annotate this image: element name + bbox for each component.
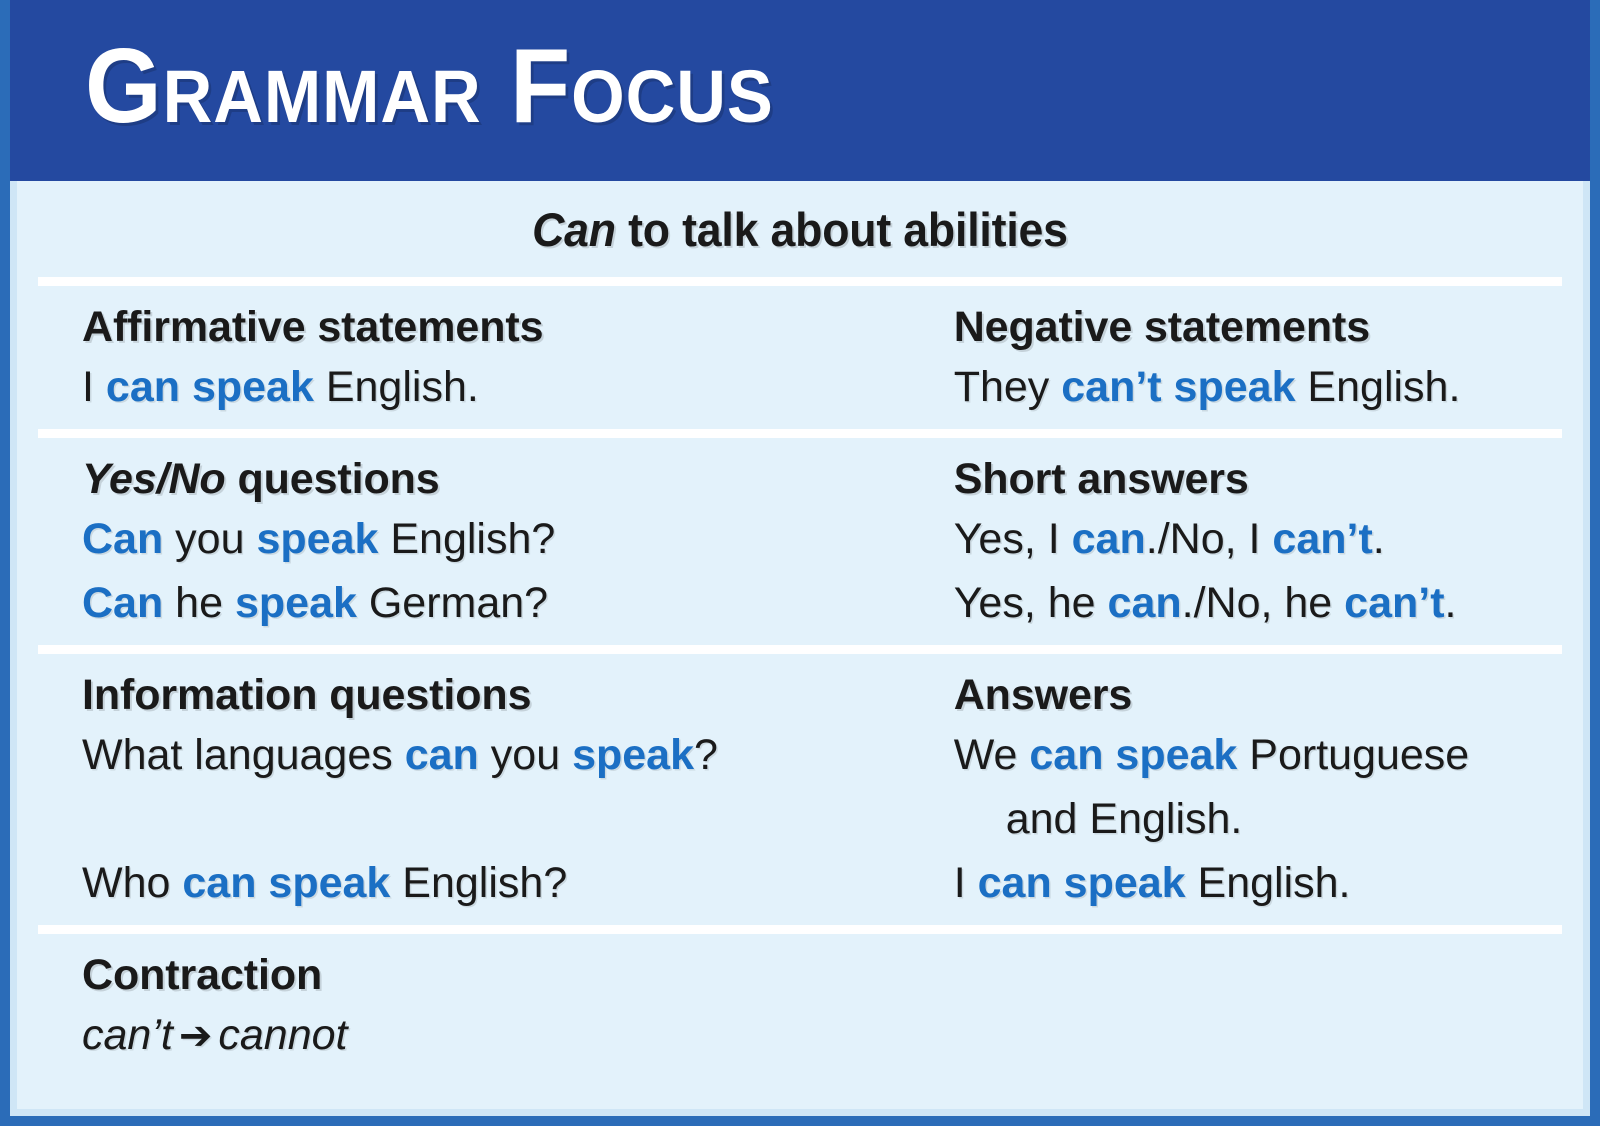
subtitle-rest: to talk about abilities <box>616 203 1068 256</box>
text-plain: German? <box>357 579 548 627</box>
text-highlight: can <box>1072 515 1146 563</box>
text-highlight: can’t <box>1344 579 1444 627</box>
contraction-row: Contraction can’t➔cannot <box>10 934 1590 1078</box>
text-plain: English. <box>1295 363 1460 411</box>
category-title: Affirmative statements <box>82 300 909 355</box>
text-plain: English. <box>1186 859 1351 907</box>
text-plain: What languages <box>82 731 405 779</box>
text-plain: They <box>954 363 1062 411</box>
text-plain: ./No, I <box>1146 515 1273 563</box>
text-plain: you <box>163 515 256 563</box>
category-title-emphasis: Yes/No <box>82 455 226 503</box>
example-line: Can you speak English? <box>82 507 909 571</box>
text-plain: Portuguese <box>1237 731 1469 779</box>
text-highlight: Can <box>82 579 163 627</box>
text-plain: English? <box>378 515 555 563</box>
category-title-rest: questions <box>226 455 440 503</box>
text-highlight: can speak <box>978 859 1186 907</box>
example-line: Who can speak English? <box>82 851 909 915</box>
content-area: Can to talk about abilities Affirmative … <box>10 181 1590 1116</box>
category-title: Negative statements <box>954 300 1590 355</box>
arrow-right-icon: ➔ <box>173 1013 219 1059</box>
text-plain: . <box>1445 579 1457 627</box>
row-right-cell: Negative statements They can’t speak Eng… <box>909 300 1590 419</box>
text-plain: Yes, I <box>954 515 1072 563</box>
grammar-focus-card: Grammar Focus Can to talk about abilitie… <box>0 0 1600 1126</box>
text-highlight: can <box>405 731 479 779</box>
text-plain: he <box>163 579 235 627</box>
contraction-to: cannot <box>218 1011 347 1059</box>
text-highlight: speak <box>235 579 357 627</box>
example-line: What languages can you speak? <box>82 723 909 787</box>
subtitle-emphasis: Can <box>532 203 616 256</box>
divider <box>38 277 1562 286</box>
text-highlight: speak <box>256 515 378 563</box>
text-plain: English? <box>390 859 567 907</box>
row-left-cell: Affirmative statements I can speak Engli… <box>10 300 909 419</box>
example-line: We can speak Portuguese <box>954 723 1590 787</box>
grammar-row: Information questions What languages can… <box>10 654 1590 925</box>
text-highlight: can <box>1108 579 1182 627</box>
text-highlight: Can <box>82 515 163 563</box>
text-plain: ./No, he <box>1182 579 1345 627</box>
text-highlight: can’t speak <box>1061 363 1295 411</box>
category-title: Short answers <box>954 452 1590 507</box>
subtitle-row: Can to talk about abilities <box>10 181 1590 277</box>
divider <box>38 429 1562 438</box>
text-plain: We <box>954 731 1030 779</box>
subtitle: Can to talk about abilities <box>532 202 1068 257</box>
text-highlight: can’t <box>1272 515 1372 563</box>
example-line: I can speak English. <box>82 355 909 419</box>
category-title: Information questions <box>82 668 909 723</box>
text-highlight: speak <box>572 731 694 779</box>
contraction-example: can’t➔cannot <box>82 1003 920 1068</box>
text-plain: English. <box>314 363 479 411</box>
header-bar: Grammar Focus <box>0 0 1600 181</box>
category-title: Yes/No questions <box>82 452 909 507</box>
example-line: Yes, I can./No, I can’t. <box>954 507 1590 571</box>
text-plain: ? <box>694 731 718 779</box>
divider <box>38 925 1562 934</box>
text-plain: I <box>954 859 978 907</box>
category-title: Answers <box>954 668 1590 723</box>
text-plain: Who <box>82 859 182 907</box>
text-plain: Yes, he <box>954 579 1108 627</box>
row-left-cell: Information questions What languages can… <box>10 668 909 915</box>
example-line: Can he speak German? <box>82 571 909 635</box>
text-plain: you <box>479 731 572 779</box>
text-highlight: can speak <box>106 363 314 411</box>
page-title: Grammar Focus <box>85 26 774 146</box>
category-title: Contraction <box>82 948 920 1003</box>
example-line-continuation: and English. <box>954 787 1590 851</box>
grammar-row: Yes/No questions Can you speak English? … <box>10 438 1590 645</box>
text-plain: . <box>1373 515 1385 563</box>
grammar-row: Affirmative statements I can speak Engli… <box>10 286 1590 429</box>
example-line: Yes, he can./No, he can’t. <box>954 571 1590 635</box>
row-right-cell: Answers We can speak Portuguese and Engl… <box>909 668 1590 915</box>
divider <box>38 645 1562 654</box>
row-right-cell: Short answers Yes, I can./No, I can’t. Y… <box>909 452 1590 635</box>
row-left-cell: Contraction can’t➔cannot <box>10 948 920 1068</box>
example-line: I can speak English. <box>954 851 1590 915</box>
row-left-cell: Yes/No questions Can you speak English? … <box>10 452 909 635</box>
contraction-from: can’t <box>82 1011 173 1059</box>
text-highlight: can speak <box>1029 731 1237 779</box>
text-highlight: can speak <box>182 859 390 907</box>
text-plain: I <box>82 363 106 411</box>
example-line: They can’t speak English. <box>954 355 1590 419</box>
